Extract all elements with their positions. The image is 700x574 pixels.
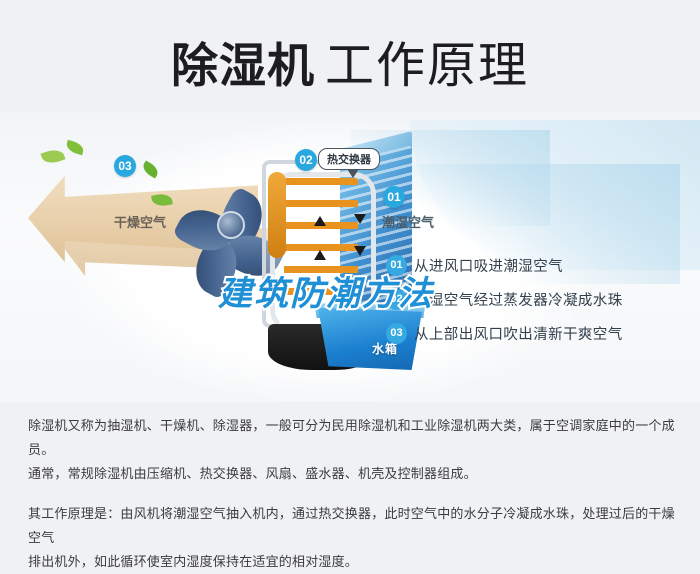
page-title: 除湿机工作原理: [0, 26, 700, 97]
list-item: 03 从上部出风口吹出清新干爽空气: [386, 316, 686, 350]
paragraph-1-line-2: 通常，常规除湿机由压缩机、热交换器、风扇、盛水器、机壳及控制器组成。: [28, 462, 676, 486]
humid-air-label: 潮湿空气: [382, 212, 434, 231]
airflow-arrow-down-icon: [354, 214, 366, 224]
paragraph-2-line-1: 其工作原理是：由风机将潮湿空气抽入机内，通过热交换器，此时空气中的水分子冷凝成水…: [28, 502, 676, 550]
step-text: 从上部出风口吹出清新干爽空气: [414, 323, 623, 344]
step-text: 潮湿空气经过蒸发器冷凝成水珠: [414, 289, 623, 310]
paragraph-spacer: [28, 486, 676, 502]
step-number-badge: 03: [386, 323, 407, 344]
airflow-arrow-up-icon: [314, 250, 326, 260]
page-title-secondary: 工作原理: [325, 39, 529, 93]
paragraph-1-line-1: 除湿机又称为抽湿机、干燥机、除湿器，一般可分为民用除湿机和工业除湿机两大类，属于…: [28, 414, 676, 462]
airflow-arrow-down-icon: [354, 246, 366, 256]
body-copy: 除湿机又称为抽湿机、干燥机、除湿器，一般可分为民用除湿机和工业除湿机两大类，属于…: [28, 414, 676, 574]
illustration-badge-02: 02: [295, 149, 317, 171]
illustration-badge-03: 03: [114, 155, 136, 177]
fan-hub: [217, 211, 245, 239]
page-title-primary: 除湿机: [171, 39, 315, 92]
watermark-text: 建筑防潮方法: [218, 266, 434, 315]
dry-air-label: 干燥空气: [114, 212, 166, 231]
heat-exchanger-callout: 热交换器: [318, 148, 380, 170]
airflow-arrow-up-icon: [314, 216, 326, 226]
illustration-badge-01: 01: [383, 186, 405, 208]
step-text: 从进风口吸进潮湿空气: [414, 255, 563, 276]
paragraph-2-line-2: 排出机外，如此循环使室内湿度保持在适宜的相对湿度。: [28, 550, 676, 574]
